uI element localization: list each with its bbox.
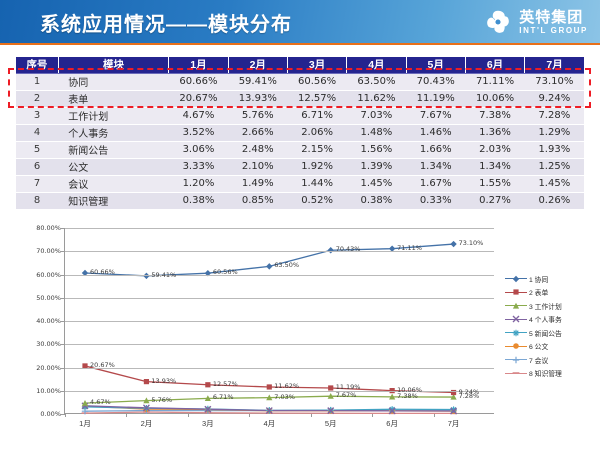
x-tick-mark bbox=[65, 414, 66, 417]
y-tick-mark bbox=[61, 344, 65, 345]
x-tick-label: 7月 bbox=[448, 418, 460, 429]
legend-item[interactable]: 6 公文 bbox=[505, 341, 597, 352]
page-header-banner: 系统应用情况——模块分布 英特集团 INT'L GROUP bbox=[0, 0, 600, 45]
cell-value-m1: 3.33% bbox=[169, 158, 228, 175]
x-tick-mark bbox=[311, 414, 312, 417]
cell-value-m4: 63.50% bbox=[347, 73, 406, 90]
y-tick-label: 50.00% bbox=[36, 294, 61, 302]
table-row: 5新闻公告3.06%2.48%2.15%1.56%1.66%2.03%1.93% bbox=[16, 141, 584, 158]
x-tick-mark bbox=[126, 414, 127, 417]
logo-text-en: INT'L GROUP bbox=[519, 27, 588, 35]
cell-value-m3: 6.71% bbox=[287, 107, 346, 124]
chart-point-marker bbox=[513, 343, 519, 349]
cell-value-m4: 7.03% bbox=[347, 107, 406, 124]
table-col-header-5: 4月 bbox=[347, 57, 406, 73]
cell-value-m5: 1.67% bbox=[406, 175, 465, 192]
cell-value-m5: 70.43% bbox=[406, 73, 465, 90]
legend-item[interactable]: 4 个人事务 bbox=[505, 314, 597, 325]
cell-value-m1: 60.66% bbox=[169, 73, 228, 90]
table-col-header-8: 7月 bbox=[525, 57, 584, 73]
cell-value-m3: 1.44% bbox=[287, 175, 346, 192]
x-tick-mark bbox=[188, 414, 189, 417]
cell-module: 表单 bbox=[58, 90, 169, 107]
chart-point-marker bbox=[450, 241, 456, 247]
cell-value-m5: 1.46% bbox=[406, 124, 465, 141]
chart-point-marker bbox=[513, 289, 518, 294]
legend-marker-icon bbox=[505, 328, 527, 338]
legend-item[interactable]: 1 协同 bbox=[505, 273, 597, 284]
legend-label: 6 公文 bbox=[529, 341, 548, 351]
x-tick-label: 5月 bbox=[325, 418, 337, 429]
chart-point-marker bbox=[266, 263, 272, 269]
chart-point-marker bbox=[513, 329, 519, 335]
data-table: 序号模块1月2月3月4月5月6月7月 1协同60.66%59.41%60.56%… bbox=[16, 57, 584, 210]
cell-module: 个人事务 bbox=[58, 124, 169, 141]
cell-value-m3: 0.52% bbox=[287, 192, 346, 209]
cell-module: 工作计划 bbox=[58, 107, 169, 124]
legend-marker-icon bbox=[505, 287, 527, 297]
y-tick-label: 80.00% bbox=[36, 224, 61, 232]
chart-gridline bbox=[65, 275, 494, 276]
legend-item[interactable]: 5 新闻公告 bbox=[505, 327, 597, 338]
cell-value-m5: 7.67% bbox=[406, 107, 465, 124]
page-title: 系统应用情况——模块分布 bbox=[40, 8, 292, 37]
chart-data-label: 12.57% bbox=[213, 380, 238, 388]
chart-data-label: 70.43% bbox=[336, 245, 361, 253]
cell-value-m6: 7.38% bbox=[465, 107, 524, 124]
chart-point-marker bbox=[267, 384, 272, 389]
table-row: 1协同60.66%59.41%60.56%63.50%70.43%71.11%7… bbox=[16, 73, 584, 90]
y-tick-label: 40.00% bbox=[36, 317, 61, 325]
cell-module: 协同 bbox=[58, 73, 169, 90]
chart-data-label: 5.76% bbox=[151, 396, 172, 404]
legend-marker-icon bbox=[505, 301, 527, 311]
chart-data-label: 71.11% bbox=[397, 244, 422, 252]
cell-value-m3: 2.06% bbox=[287, 124, 346, 141]
cell-value-m6: 71.11% bbox=[465, 73, 524, 90]
y-tick-mark bbox=[61, 275, 65, 276]
chart-data-label: 60.66% bbox=[90, 268, 115, 276]
y-tick-mark bbox=[61, 321, 65, 322]
chart-point-marker bbox=[328, 247, 334, 253]
y-tick-label: 70.00% bbox=[36, 247, 61, 255]
chart-point-marker bbox=[144, 379, 149, 384]
chart-data-label: 7.67% bbox=[336, 391, 357, 399]
chart-gridline bbox=[65, 251, 494, 252]
table-row: 6公文3.33%2.10%1.92%1.39%1.34%1.34%1.25% bbox=[16, 158, 584, 175]
chart-gridline bbox=[65, 391, 494, 392]
cell-value-m4: 0.38% bbox=[347, 192, 406, 209]
legend-marker-icon bbox=[505, 274, 527, 284]
x-tick-label: 4月 bbox=[263, 418, 275, 429]
x-tick-mark bbox=[434, 414, 435, 417]
cell-value-m3: 2.15% bbox=[287, 141, 346, 158]
cell-value-m2: 59.41% bbox=[228, 73, 287, 90]
x-tick-label: 2月 bbox=[141, 418, 153, 429]
cell-no: 3 bbox=[16, 107, 58, 124]
table-col-header-7: 6月 bbox=[465, 57, 524, 73]
cell-value-m6: 10.06% bbox=[465, 90, 524, 107]
legend-label: 3 工作计划 bbox=[529, 301, 562, 311]
cell-value-m4: 11.62% bbox=[347, 90, 406, 107]
table-row: 3工作计划4.67%5.76%6.71%7.03%7.67%7.38%7.28% bbox=[16, 107, 584, 124]
line-chart: 0.00%10.00%20.00%30.00%40.00%50.00%60.00… bbox=[0, 215, 600, 453]
cell-value-m1: 1.20% bbox=[169, 175, 228, 192]
cell-value-m7: 1.29% bbox=[525, 124, 584, 141]
chart-gridline bbox=[65, 298, 494, 299]
cell-value-m4: 1.48% bbox=[347, 124, 406, 141]
cell-no: 8 bbox=[16, 192, 58, 209]
chart-gridline bbox=[65, 344, 494, 345]
cell-value-m2: 2.10% bbox=[228, 158, 287, 175]
chart-point-marker bbox=[513, 302, 519, 308]
cell-value-m6: 1.34% bbox=[465, 158, 524, 175]
cell-value-m6: 1.36% bbox=[465, 124, 524, 141]
cell-value-m7: 1.45% bbox=[525, 175, 584, 192]
cell-value-m2: 5.76% bbox=[228, 107, 287, 124]
cell-value-m2: 0.85% bbox=[228, 192, 287, 209]
chart-plot-area: 0.00%10.00%20.00%30.00%40.00%50.00%60.00… bbox=[64, 228, 494, 414]
cell-value-m1: 0.38% bbox=[169, 192, 228, 209]
chart-gridline bbox=[65, 228, 494, 229]
legend-item[interactable]: 7 会议 bbox=[505, 354, 597, 365]
cell-no: 1 bbox=[16, 73, 58, 90]
cell-value-m4: 1.39% bbox=[347, 158, 406, 175]
cell-value-m3: 1.92% bbox=[287, 158, 346, 175]
x-tick-mark bbox=[249, 414, 250, 417]
chart-data-label: 4.67% bbox=[90, 398, 111, 406]
cell-value-m2: 2.66% bbox=[228, 124, 287, 141]
cell-no: 2 bbox=[16, 90, 58, 107]
chart-data-label: 6.71% bbox=[213, 393, 234, 401]
cell-value-m7: 1.93% bbox=[525, 141, 584, 158]
chart-data-label: 60.56% bbox=[213, 268, 238, 276]
table-row: 4个人事务3.52%2.66%2.06%1.48%1.46%1.36%1.29% bbox=[16, 124, 584, 141]
chart-data-label: 11.19% bbox=[336, 383, 361, 391]
cell-value-m7: 9.24% bbox=[525, 90, 584, 107]
legend-item[interactable]: 8 知识管理 bbox=[505, 368, 597, 379]
chart-data-label: 73.10% bbox=[459, 239, 484, 247]
table-row: 7会议1.20%1.49%1.44%1.45%1.67%1.55%1.45% bbox=[16, 175, 584, 192]
cell-no: 4 bbox=[16, 124, 58, 141]
legend-item[interactable]: 2 表单 bbox=[505, 287, 597, 298]
legend-label: 1 协同 bbox=[529, 274, 548, 284]
y-tick-mark bbox=[61, 391, 65, 392]
cell-value-m4: 1.56% bbox=[347, 141, 406, 158]
cell-value-m2: 2.48% bbox=[228, 141, 287, 158]
chart-data-label: 7.38% bbox=[397, 392, 418, 400]
table-header-row: 序号模块1月2月3月4月5月6月7月 bbox=[16, 57, 584, 73]
cell-module: 会议 bbox=[58, 175, 169, 192]
cell-no: 6 bbox=[16, 158, 58, 175]
cell-value-m1: 3.52% bbox=[169, 124, 228, 141]
legend-label: 2 表单 bbox=[529, 287, 548, 297]
chart-point-marker bbox=[205, 382, 210, 387]
y-tick-mark bbox=[61, 298, 65, 299]
chart-legend: 1 协同2 表单3 工作计划4 个人事务5 新闻公告6 公文7 会议8 知识管理 bbox=[505, 273, 597, 379]
chart-point-marker bbox=[513, 275, 519, 281]
logo-mark-icon bbox=[483, 7, 513, 37]
legend-marker-icon bbox=[505, 341, 527, 351]
y-tick-label: 10.00% bbox=[36, 387, 61, 395]
legend-marker-icon bbox=[505, 355, 527, 365]
x-tick-label: 3月 bbox=[202, 418, 214, 429]
chart-gridline bbox=[65, 368, 494, 369]
cell-no: 7 bbox=[16, 175, 58, 192]
y-tick-mark bbox=[61, 228, 65, 229]
y-tick-label: 30.00% bbox=[36, 340, 61, 348]
chart-data-label: 7.28% bbox=[459, 392, 480, 400]
legend-label: 7 会议 bbox=[529, 355, 548, 365]
legend-item[interactable]: 3 工作计划 bbox=[505, 300, 597, 311]
cell-value-m7: 0.26% bbox=[525, 192, 584, 209]
table-col-header-4: 3月 bbox=[287, 57, 346, 73]
cell-value-m4: 1.45% bbox=[347, 175, 406, 192]
y-tick-mark bbox=[61, 368, 65, 369]
cell-module: 新闻公告 bbox=[58, 141, 169, 158]
chart-point-marker bbox=[513, 356, 519, 362]
table-row: 2表单20.67%13.93%12.57%11.62%11.19%10.06%9… bbox=[16, 90, 584, 107]
legend-label: 5 新闻公告 bbox=[529, 328, 562, 338]
cell-value-m3: 12.57% bbox=[287, 90, 346, 107]
cell-value-m6: 0.27% bbox=[465, 192, 524, 209]
x-tick-label: 1月 bbox=[79, 418, 91, 429]
chart-data-label: 11.62% bbox=[274, 382, 299, 390]
cell-module: 公文 bbox=[58, 158, 169, 175]
legend-marker-icon bbox=[505, 368, 527, 378]
cell-value-m7: 7.28% bbox=[525, 107, 584, 124]
chart-gridline bbox=[65, 321, 494, 322]
cell-value-m5: 11.19% bbox=[406, 90, 465, 107]
table-row: 8知识管理0.38%0.85%0.52%0.38%0.33%0.27%0.26% bbox=[16, 192, 584, 209]
cell-no: 5 bbox=[16, 141, 58, 158]
legend-marker-icon bbox=[505, 314, 527, 324]
table-col-header-0: 序号 bbox=[16, 57, 58, 73]
cell-value-m6: 2.03% bbox=[465, 141, 524, 158]
legend-label: 4 个人事务 bbox=[529, 314, 562, 324]
y-tick-label: 20.00% bbox=[36, 364, 61, 372]
chart-data-label: 63.50% bbox=[274, 261, 299, 269]
table-col-header-6: 5月 bbox=[406, 57, 465, 73]
table-body: 1协同60.66%59.41%60.56%63.50%70.43%71.11%7… bbox=[16, 73, 584, 209]
cell-value-m1: 4.67% bbox=[169, 107, 228, 124]
chart-data-label: 7.03% bbox=[274, 393, 295, 401]
cell-value-m1: 20.67% bbox=[169, 90, 228, 107]
cell-value-m6: 1.55% bbox=[465, 175, 524, 192]
cell-module: 知识管理 bbox=[58, 192, 169, 209]
cell-value-m5: 1.66% bbox=[406, 141, 465, 158]
legend-label: 8 知识管理 bbox=[529, 368, 562, 378]
table-col-header-2: 1月 bbox=[169, 57, 228, 73]
y-tick-label: 60.00% bbox=[36, 271, 61, 279]
cell-value-m5: 0.33% bbox=[406, 192, 465, 209]
y-tick-mark bbox=[61, 251, 65, 252]
x-tick-label: 6月 bbox=[386, 418, 398, 429]
chart-point-marker bbox=[513, 316, 519, 322]
cell-value-m7: 1.25% bbox=[525, 158, 584, 175]
cell-value-m5: 1.34% bbox=[406, 158, 465, 175]
cell-value-m7: 73.10% bbox=[525, 73, 584, 90]
cell-value-m2: 1.49% bbox=[228, 175, 287, 192]
y-tick-label: 0.00% bbox=[40, 410, 61, 418]
table-col-header-3: 2月 bbox=[228, 57, 287, 73]
cell-value-m1: 3.06% bbox=[169, 141, 228, 158]
logo-text-cn: 英特集团 bbox=[519, 10, 588, 25]
cell-value-m2: 13.93% bbox=[228, 90, 287, 107]
company-logo: 英特集团 INT'L GROUP bbox=[483, 7, 588, 37]
module-distribution-table: 序号模块1月2月3月4月5月6月7月 1协同60.66%59.41%60.56%… bbox=[16, 57, 584, 210]
table-col-header-1: 模块 bbox=[58, 57, 169, 73]
chart-data-label: 20.67% bbox=[90, 361, 115, 369]
chart-data-label: 13.93% bbox=[151, 377, 176, 385]
chart-data-label: 59.41% bbox=[151, 271, 176, 279]
x-tick-mark bbox=[372, 414, 373, 417]
cell-value-m3: 60.56% bbox=[287, 73, 346, 90]
